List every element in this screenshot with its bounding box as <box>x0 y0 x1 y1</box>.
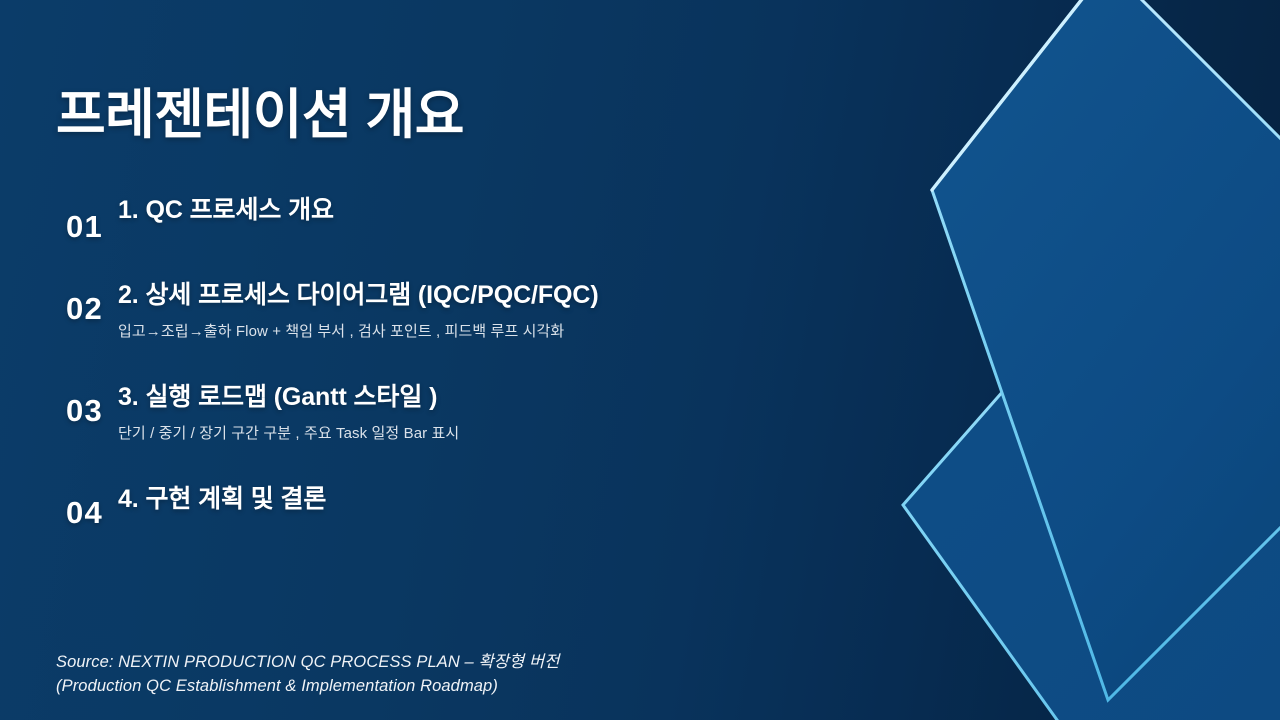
agenda-subtext-03: 단기 / 중기 / 장기 구간 구분 , 주요 Task 일정 Bar 표시 <box>118 424 900 444</box>
agenda-number-04: 04 <box>0 497 118 528</box>
agenda-body-04: 4. 구현 계획 및 결론 <box>118 485 900 514</box>
agenda-item-01[interactable]: 01 1. QC 프로세스 개요 <box>0 196 900 242</box>
presentation-slide: 프레젠테이션 개요 01 1. QC 프로세스 개요 02 2. 상세 프로세스… <box>0 0 1280 720</box>
diamond-shape-secondary <box>903 125 1280 720</box>
agenda-item-04[interactable]: 04 4. 구현 계획 및 결론 <box>0 485 900 528</box>
agenda-number-02: 02 <box>0 293 118 324</box>
agenda-heading-04: 4. 구현 계획 및 결론 <box>118 485 900 514</box>
agenda-body-03: 3. 실행 로드맵 (Gantt 스타일 ) 단기 / 중기 / 장기 구간 구… <box>118 383 900 443</box>
page-title: 프레젠테이션 개요 <box>56 84 464 148</box>
agenda-list: 01 1. QC 프로세스 개요 02 2. 상세 프로세스 다이어그램 (IQ… <box>0 196 900 528</box>
agenda-item-02[interactable]: 02 2. 상세 프로세스 다이어그램 (IQC/PQC/FQC) 입고→조립→… <box>0 281 900 341</box>
source-note: Source: NEXTIN PRODUCTION QC PROCESS PLA… <box>56 651 560 698</box>
diamond-edge-highlight <box>932 0 1108 190</box>
agenda-number-03: 03 <box>0 395 118 426</box>
source-note-line-1: Source: NEXTIN PRODUCTION QC PROCESS PLA… <box>56 651 560 674</box>
agenda-body-01: 1. QC 프로세스 개요 <box>118 196 900 225</box>
agenda-subtext-02: 입고→조립→출하 Flow + 책임 부서 , 검사 포인트 , 피드백 루프 … <box>118 322 900 342</box>
agenda-item-03[interactable]: 03 3. 실행 로드맵 (Gantt 스타일 ) 단기 / 중기 / 장기 구… <box>0 383 900 443</box>
agenda-number-01: 01 <box>0 211 118 242</box>
agenda-heading-01: 1. QC 프로세스 개요 <box>118 196 900 225</box>
agenda-body-02: 2. 상세 프로세스 다이어그램 (IQC/PQC/FQC) 입고→조립→출하 … <box>118 281 900 341</box>
source-note-line-2: (Production QC Establishment & Implement… <box>56 675 560 698</box>
agenda-heading-03: 3. 실행 로드맵 (Gantt 스타일 ) <box>118 383 900 412</box>
agenda-heading-02: 2. 상세 프로세스 다이어그램 (IQC/PQC/FQC) <box>118 281 900 310</box>
diamond-shape-primary <box>932 0 1280 700</box>
